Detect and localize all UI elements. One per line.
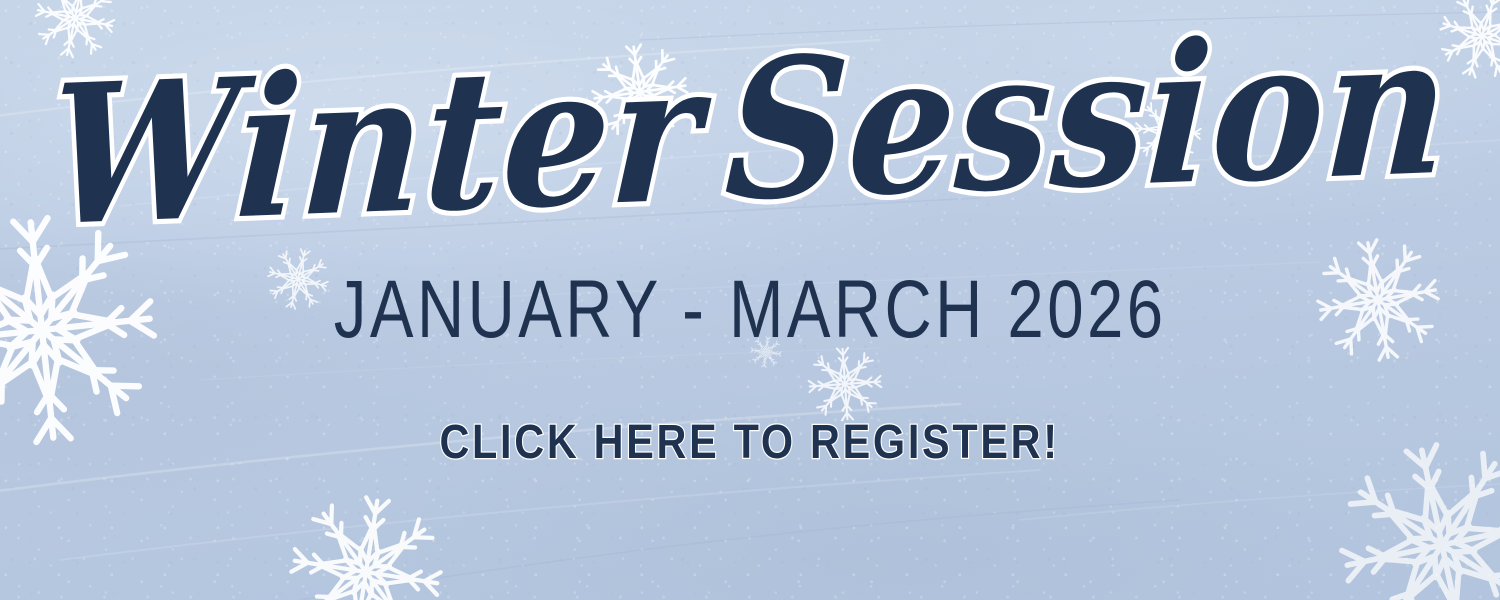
headline-word-winter: Winter (45, 19, 707, 269)
register-cta-link[interactable]: CLICK HERE TO REGISTER! (440, 417, 1060, 465)
headline-script: WinterSession (46, 8, 1454, 251)
headline-word-session: Session (721, 0, 1454, 244)
banner-content: WinterSession JANUARY - MARCH 2026 CLICK… (0, 0, 1500, 600)
headline-script-line: WinterSession (0, 46, 1500, 214)
cta-line[interactable]: CLICK HERE TO REGISTER! (0, 418, 1500, 464)
subheadline-line: JANUARY - MARCH 2026 (0, 272, 1500, 348)
winter-session-banner[interactable]: WinterSession JANUARY - MARCH 2026 CLICK… (0, 0, 1500, 600)
session-date-range: JANUARY - MARCH 2026 (334, 269, 1167, 351)
